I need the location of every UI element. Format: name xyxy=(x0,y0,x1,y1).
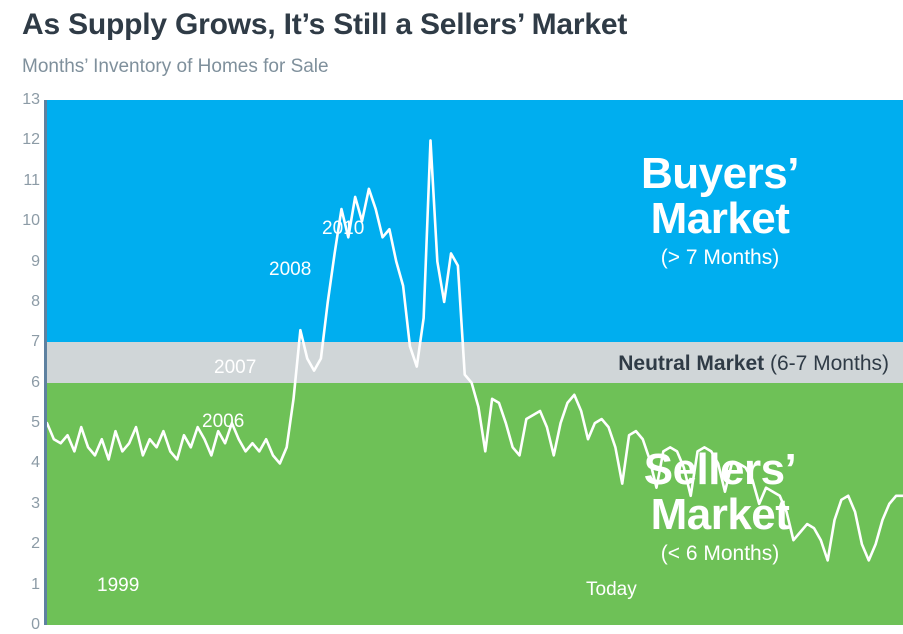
annotation-2007: 2007 xyxy=(214,357,256,379)
y-tick-3: 3 xyxy=(4,495,40,513)
y-tick-11: 11 xyxy=(4,172,40,190)
buyers-market-line2: Market xyxy=(555,197,885,242)
y-tick-13: 13 xyxy=(4,91,40,109)
y-tick-12: 12 xyxy=(4,131,40,149)
buyers-market-label: Buyers’ Market (> 7 Months) xyxy=(555,152,885,268)
y-axis-tick-labels: 131211109876543210 xyxy=(0,100,40,625)
sellers-market-label: Sellers’ Market (< 6 Months) xyxy=(555,448,885,564)
y-tick-8: 8 xyxy=(4,293,40,311)
sellers-market-line1: Sellers’ xyxy=(555,448,885,493)
y-tick-10: 10 xyxy=(4,212,40,230)
y-tick-5: 5 xyxy=(4,414,40,432)
neutral-market-range: (6-7 Months) xyxy=(764,352,889,375)
page-subtitle: Months’ Inventory of Homes for Sale xyxy=(22,56,329,78)
y-tick-1: 1 xyxy=(4,576,40,594)
neutral-market-label: Neutral Market (6-7 Months) xyxy=(618,352,889,376)
annotation-today: Today xyxy=(586,579,637,601)
annotation-2010: 2010 xyxy=(322,218,364,240)
sellers-market-line2: Market xyxy=(555,493,885,538)
annotation-2006: 2006 xyxy=(202,411,244,433)
y-tick-2: 2 xyxy=(4,535,40,553)
buyers-market-sub: (> 7 Months) xyxy=(555,247,885,268)
y-tick-0: 0 xyxy=(4,616,40,634)
y-tick-9: 9 xyxy=(4,253,40,271)
neutral-market-bold: Neutral Market xyxy=(618,352,764,375)
annotation-2008: 2008 xyxy=(269,259,311,281)
chart-container: 131211109876543210 Buyers’ Market (> 7 M… xyxy=(0,92,903,633)
buyers-market-line1: Buyers’ xyxy=(555,152,885,197)
chart-page: As Supply Grows, It’s Still a Sellers’ M… xyxy=(0,0,903,633)
plot-area: Buyers’ Market (> 7 Months) Neutral Mark… xyxy=(47,100,903,625)
y-tick-4: 4 xyxy=(4,454,40,472)
sellers-market-sub: (< 6 Months) xyxy=(555,543,885,564)
y-tick-7: 7 xyxy=(4,333,40,351)
y-tick-6: 6 xyxy=(4,374,40,392)
page-title: As Supply Grows, It’s Still a Sellers’ M… xyxy=(22,8,627,42)
annotation-1999: 1999 xyxy=(97,575,139,597)
